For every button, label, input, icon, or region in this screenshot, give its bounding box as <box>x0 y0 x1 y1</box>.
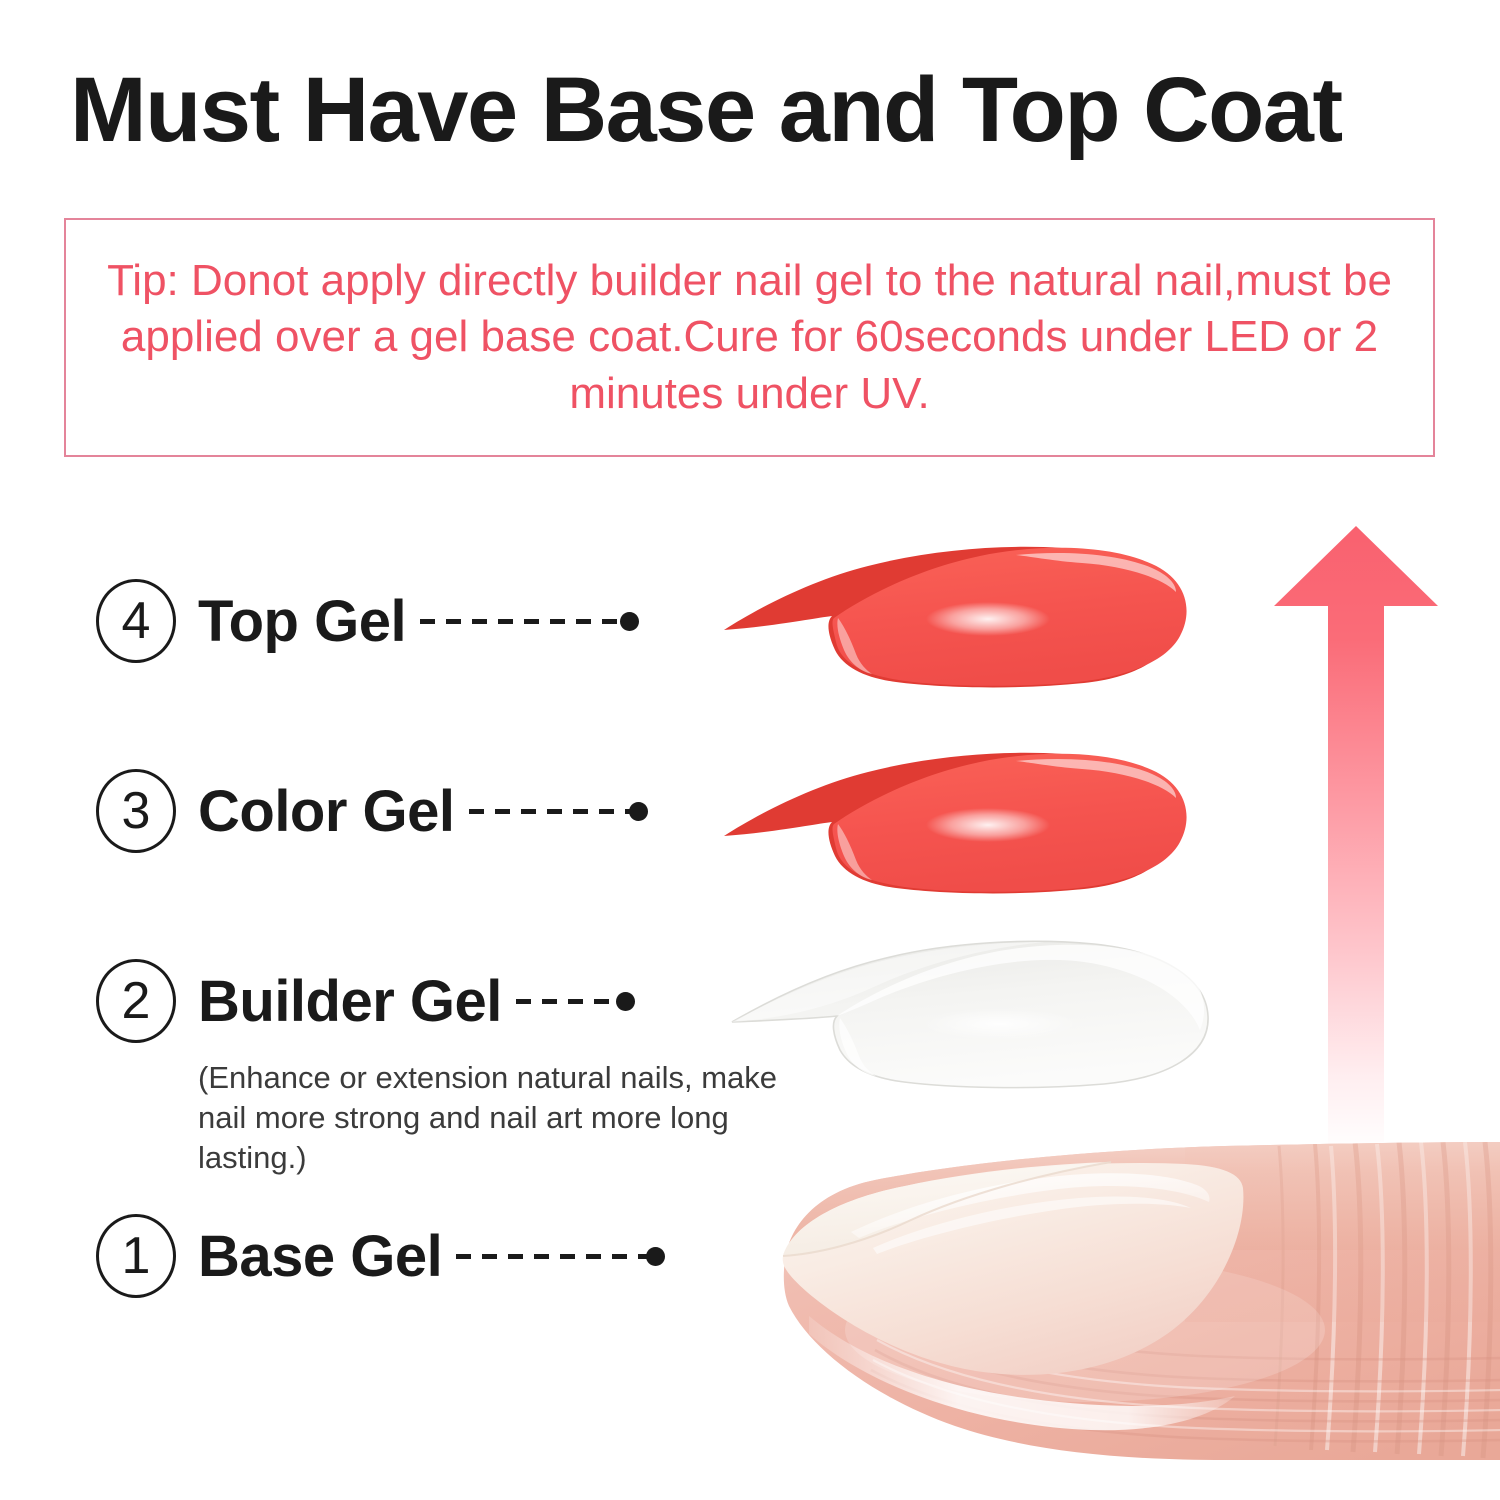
layer-row-base-gel: 1 Base Gel <box>96 1213 656 1299</box>
layer-row-color-gel: 3 Color Gel <box>96 768 639 854</box>
layer-number-badge-3: 3 <box>96 769 176 853</box>
layer-row-top-gel: 4 Top Gel <box>96 578 630 664</box>
leader-line-color-gel <box>469 809 639 814</box>
infographic-page: Must Have Base and Top Coat Tip: Donot a… <box>0 0 1500 1500</box>
layer-label-builder-gel: Builder Gel <box>198 968 502 1035</box>
tip-callout-box: Tip: Donot apply directly builder nail g… <box>64 218 1435 457</box>
layer-number-badge-2: 2 <box>96 959 176 1043</box>
layer-label-color-gel: Color Gel <box>198 778 455 845</box>
leader-line-top-gel <box>420 619 630 624</box>
layer-number-badge-1: 1 <box>96 1214 176 1298</box>
color-gel-swatch-icon <box>716 728 1196 928</box>
upward-layer-arrow-icon <box>1258 520 1458 1160</box>
layer-row-builder-gel: 2 Builder Gel <box>96 958 626 1044</box>
fingertip-photo <box>755 1120 1500 1500</box>
leader-line-base-gel <box>456 1254 656 1259</box>
page-title: Must Have Base and Top Coat <box>70 62 1450 159</box>
layer-label-base-gel: Base Gel <box>198 1223 442 1290</box>
layer-label-top-gel: Top Gel <box>198 588 406 655</box>
layer-number-badge-4: 4 <box>96 579 176 663</box>
leader-line-builder-gel <box>516 999 626 1004</box>
tip-text: Tip: Donot apply directly builder nail g… <box>107 253 1392 422</box>
top-gel-swatch-icon <box>716 522 1196 722</box>
builder-gel-swatch-icon <box>700 920 1220 1120</box>
